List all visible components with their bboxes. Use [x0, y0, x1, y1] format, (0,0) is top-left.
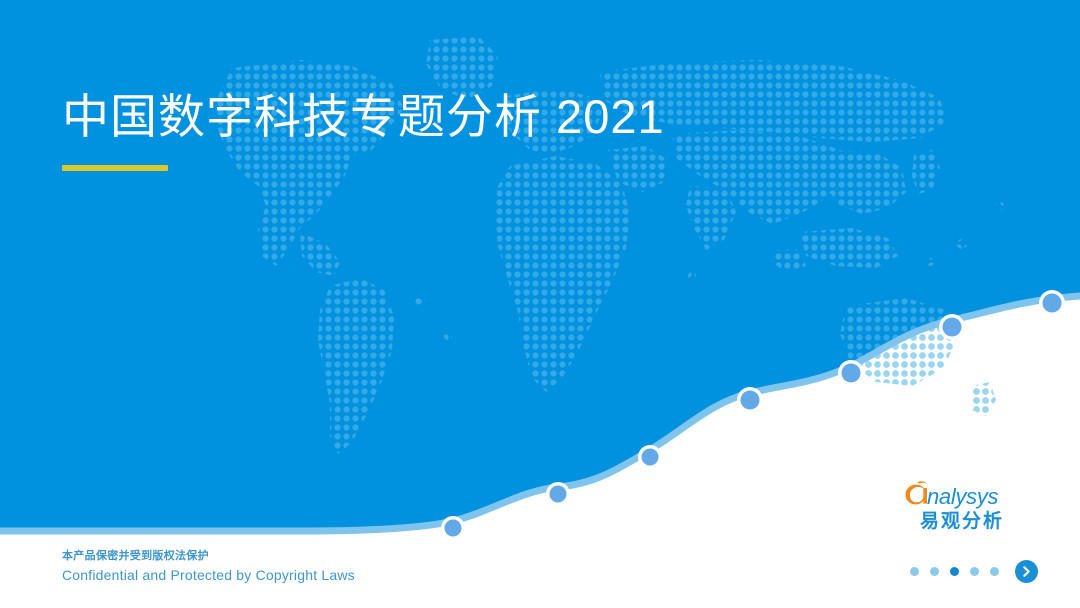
svg-text:nalysys: nalysys — [927, 484, 999, 509]
analysys-wordmark-icon: nalysys — [897, 478, 1027, 512]
curve-marker — [546, 482, 570, 506]
title-slide: 中国数字科技专题分析 2021 本产品保密并受到版权法保护 Confidenti… — [0, 0, 1080, 608]
pager-dot-4[interactable] — [970, 567, 979, 576]
next-slide-button[interactable] — [1015, 560, 1038, 583]
confidential-notice-cn: 本产品保密并受到版权法保护 — [62, 548, 355, 565]
confidential-notice: 本产品保密并受到版权法保护 Confidential and Protected… — [62, 548, 355, 585]
logo-wordmark-row: nalysys — [897, 478, 1027, 512]
curve-marker — [838, 360, 864, 386]
chevron-right-icon — [1020, 565, 1033, 578]
title-underline-accent — [62, 165, 168, 171]
curve-marker — [737, 387, 763, 413]
title-block: 中国数字科技专题分析 2021 — [62, 86, 962, 171]
logo-swoosh-icon — [906, 481, 928, 504]
pager-dot-5[interactable] — [990, 567, 999, 576]
pager-dot-3[interactable] — [950, 567, 959, 576]
slide-pager — [910, 560, 1038, 583]
page-title: 中国数字科技专题分析 2021 — [62, 86, 962, 148]
curve-marker — [1039, 290, 1065, 316]
pager-dot-2[interactable] — [930, 567, 939, 576]
pager-dot-1[interactable] — [910, 567, 919, 576]
confidential-notice-en: Confidential and Protected by Copyright … — [62, 565, 355, 585]
curve-marker — [638, 445, 662, 469]
analysys-logo-cn: 易观分析 — [897, 510, 1027, 534]
curve-marker — [939, 314, 965, 340]
analysys-logo: nalysys 易观分析 — [897, 478, 1027, 540]
curve-marker — [441, 516, 465, 540]
